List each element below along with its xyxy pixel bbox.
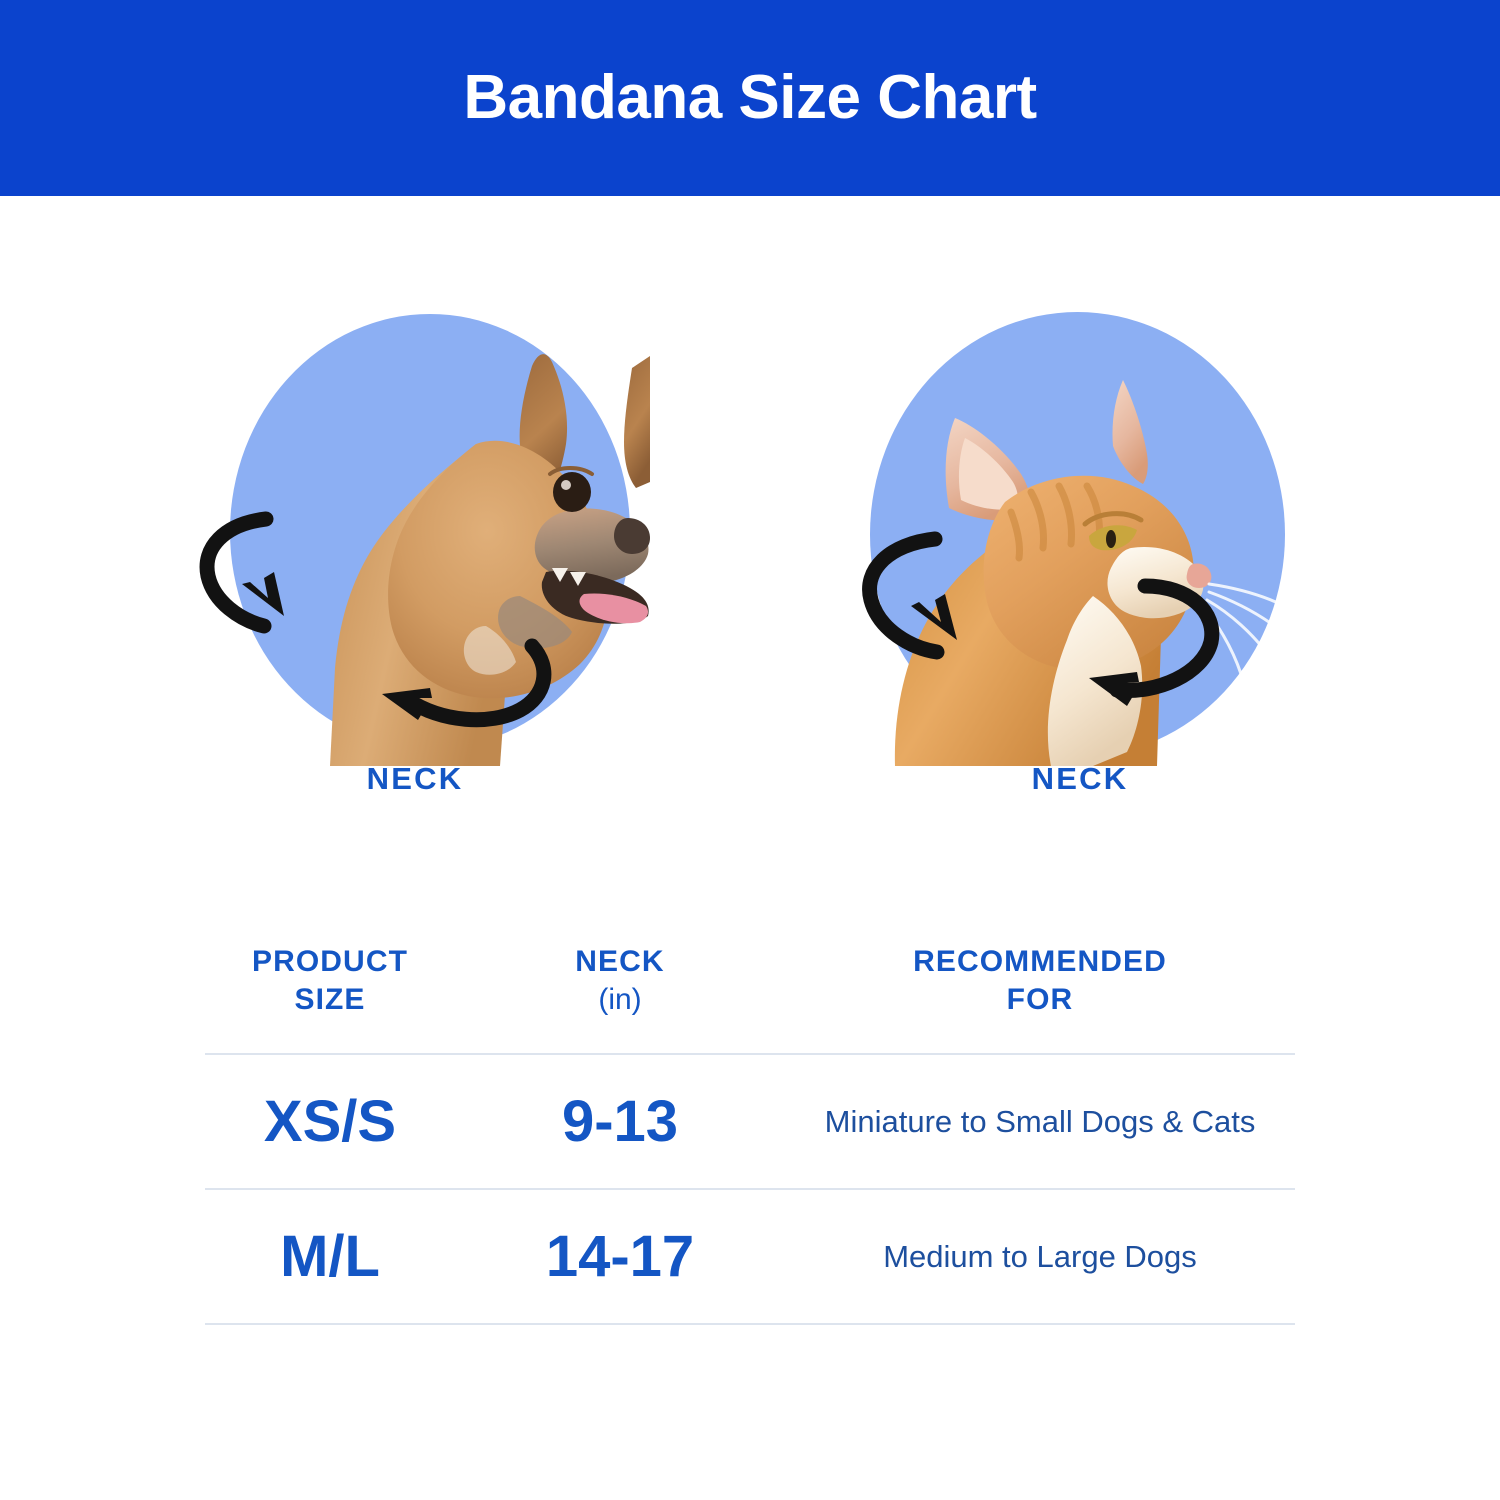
- column-header-product-size: PRODUCT SIZE: [205, 925, 455, 1053]
- column-header-neck: NECK (in): [455, 925, 785, 1053]
- table-divider-bottom: [205, 1323, 1295, 1325]
- table-row: XS/S 9-13 Miniature to Small Dogs & Cats: [205, 1055, 1295, 1188]
- cell-neck-range: 14-17: [455, 1190, 785, 1323]
- cat-illustration: NECK: [845, 296, 1315, 796]
- column-header-recommended-line1: RECOMMENDED: [913, 945, 1167, 978]
- page-header: Bandana Size Chart: [0, 0, 1500, 196]
- dog-blob-wrap: [180, 296, 650, 766]
- size-chart-table: PRODUCT SIZE NECK (in) RECOMMENDED FOR X…: [205, 925, 1295, 1325]
- column-header-product-size-line2: SIZE: [209, 981, 451, 1019]
- page-title: Bandana Size Chart: [463, 67, 1036, 129]
- column-header-product-size-line1: PRODUCT: [252, 945, 408, 978]
- dog-head-profile-photo: [180, 296, 650, 766]
- cell-product-size: M/L: [205, 1190, 455, 1323]
- cat-neck-label: NECK: [845, 761, 1315, 797]
- cell-neck-range: 9-13: [455, 1055, 785, 1188]
- column-header-recommended-for: RECOMMENDED FOR: [785, 925, 1295, 1053]
- cell-product-size: XS/S: [205, 1055, 455, 1188]
- cell-recommended-for: Medium to Large Dogs: [785, 1190, 1295, 1323]
- column-header-neck-line1: NECK: [575, 945, 664, 978]
- dog-neck-label: NECK: [180, 761, 650, 797]
- table-body: XS/S 9-13 Miniature to Small Dogs & Cats…: [205, 1055, 1295, 1325]
- illustration-row: NECK: [0, 196, 1500, 856]
- column-header-recommended-line2: FOR: [789, 981, 1291, 1019]
- dog-illustration: NECK: [180, 296, 650, 796]
- cell-recommended-for: Miniature to Small Dogs & Cats: [785, 1055, 1295, 1188]
- table-row: M/L 14-17 Medium to Large Dogs: [205, 1190, 1295, 1323]
- cat-head-profile-photo: [845, 296, 1315, 766]
- column-header-neck-unit: (in): [459, 981, 781, 1019]
- cat-blob-wrap: [845, 296, 1315, 766]
- table-header-row: PRODUCT SIZE NECK (in) RECOMMENDED FOR: [205, 925, 1295, 1053]
